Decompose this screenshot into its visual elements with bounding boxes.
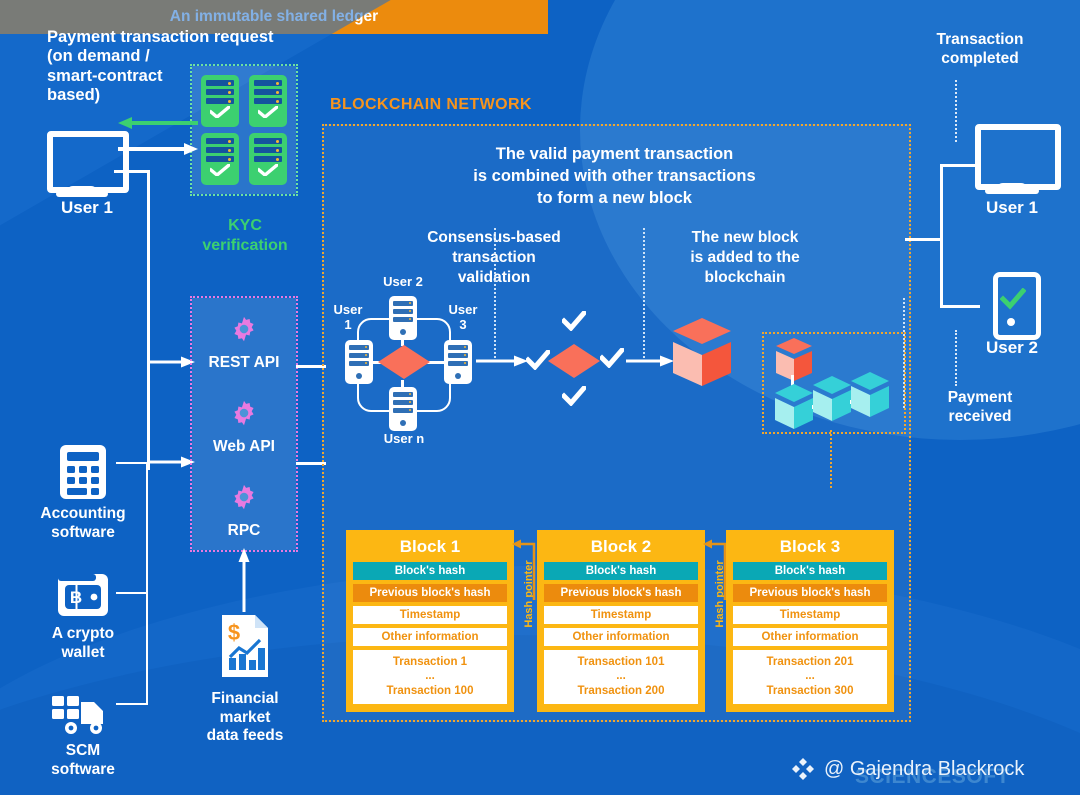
kyc-server-icon (249, 133, 287, 185)
node-user1-line2: 1 (328, 318, 368, 333)
feeds-line1: Financial (175, 690, 315, 709)
network-headline-line1: The valid payment transaction (342, 144, 887, 166)
new-block-arrow (626, 354, 674, 368)
truck-icon (50, 690, 114, 738)
source-wallet-line2: wallet (13, 644, 153, 663)
check-icon (210, 164, 230, 176)
caption-newblock-line3: blockchain (660, 268, 830, 288)
source-label-accounting: Accounting software (13, 505, 153, 542)
block-title: Block 3 (730, 534, 890, 562)
right-user1-monitor-icon (975, 124, 1061, 190)
received-dotted-connector (955, 330, 957, 386)
transactions-row: Transaction 101 ... Transaction 200 (544, 650, 698, 704)
validation-arrow (476, 354, 528, 368)
right-user1-monitor-base (985, 188, 1039, 194)
gear-icon (229, 314, 259, 344)
kyc-server-icon (201, 133, 239, 185)
node-label-usern: User n (374, 432, 434, 447)
other-info-row: Other information (544, 628, 698, 646)
right-bracket-bottom (940, 305, 980, 308)
timestamp-row: Timestamp (544, 606, 698, 624)
kyc-request-arrow (118, 142, 198, 156)
tx-ellipsis: ... (353, 669, 507, 683)
completed-line1: Transaction (900, 30, 1060, 49)
completed-dotted-connector (955, 80, 957, 142)
right-user1-label: User 1 (962, 198, 1062, 218)
node-label-user3: User 3 (443, 303, 483, 333)
network-headline: The valid payment transaction is combine… (342, 144, 887, 209)
api-label-web: Web API (192, 438, 296, 456)
caption-newblock-line2: is added to the (660, 248, 830, 268)
infographic-root: Payment transaction request (on demand /… (0, 0, 1080, 795)
block-title: Block 1 (350, 534, 510, 562)
source-scm-line1: SCM (13, 742, 153, 761)
node-label-user2: User 2 (373, 275, 433, 290)
right-bracket-vertical (940, 164, 943, 308)
check-icon (258, 106, 278, 118)
svg-text:$: $ (228, 620, 240, 645)
timestamp-row: Timestamp (733, 606, 887, 624)
ledger-block: Block 2 Block's hash Previous block's ha… (537, 530, 705, 712)
node-user3-line2: 3 (443, 318, 483, 333)
check-icon (562, 386, 586, 406)
caption-new-block: The new block is added to the blockchain (660, 228, 830, 287)
kyc-server-icon (249, 75, 287, 127)
connector-feeds-arrow (237, 548, 251, 612)
previous-hash-row: Previous block's hash (733, 584, 887, 602)
connector-scm-line (116, 703, 148, 705)
node-label-user1: User 1 (328, 303, 368, 333)
gear-icon (229, 482, 259, 512)
check-icon (562, 311, 586, 331)
previous-hash-row: Previous block's hash (544, 584, 698, 602)
blockchain-network-title: BLOCKCHAIN NETWORK (330, 96, 532, 115)
network-headline-line2: is combined with other transactions (342, 166, 887, 188)
connector-api-arrow-web (147, 455, 195, 469)
connector-sources-vertical (146, 462, 148, 705)
user1-monitor-base (56, 191, 108, 197)
check-icon (210, 106, 230, 118)
right-bracket-feed (905, 238, 943, 241)
block-title: Block 2 (541, 534, 701, 562)
received-line2: received (900, 407, 1060, 426)
right-user2-label: User 2 (962, 338, 1062, 358)
check-icon (600, 348, 624, 368)
payment-request-title: Payment transaction request (47, 28, 337, 47)
tx-last: Transaction 100 (353, 684, 507, 698)
network-headline-line3: to form a new block (342, 188, 887, 210)
api-gateway-box: REST API Web API RPC (192, 298, 296, 550)
source-accounting-line1: Accounting (13, 505, 153, 524)
connector-accounting-line (116, 462, 148, 464)
node-user2 (389, 296, 417, 340)
feeds-label: Financial market data feeds (175, 690, 315, 746)
new-block-cube-icon (669, 318, 735, 390)
timestamp-row: Timestamp (353, 606, 507, 624)
tx-first: Transaction 1 (353, 655, 507, 669)
source-label-wallet: A crypto wallet (13, 625, 153, 662)
api-label-rest: REST API (192, 354, 296, 372)
kyc-verification-box (192, 66, 296, 194)
other-info-row: Other information (353, 628, 507, 646)
financial-document-icon: $ (216, 612, 274, 680)
check-icon (1000, 288, 1026, 310)
connector-wallet-line (116, 592, 148, 594)
node-user3-line1: User (443, 303, 483, 318)
feeds-line3: data feeds (175, 727, 315, 746)
completed-line2: completed (900, 49, 1060, 68)
tx-ellipsis: ... (733, 669, 887, 683)
calculator-icon (58, 443, 108, 501)
ledger-block: Block 3 Block's hash Previous block's ha… (726, 530, 894, 712)
kyc-response-arrow (118, 116, 198, 130)
watermark: @ Gajendra Blackrock (790, 752, 1070, 786)
transaction-completed-label: Transaction completed (900, 30, 1060, 69)
caption-newblock-line1: The new block (660, 228, 830, 248)
chain-to-ledger-connector (830, 430, 832, 488)
payment-received-label: Payment received (900, 388, 1060, 427)
previous-hash-row: Previous block's hash (353, 584, 507, 602)
block-hash-row: Block's hash (544, 562, 698, 580)
source-scm-line2: software (13, 761, 153, 780)
user1-monitor-icon (47, 131, 129, 193)
gear-icon (229, 398, 259, 428)
source-accounting-line2: software (13, 524, 153, 543)
source-wallet-line1: A crypto (13, 625, 153, 644)
check-icon (526, 350, 550, 370)
kyc-label-line1: KYC (186, 216, 304, 236)
tx-last: Transaction 300 (733, 684, 887, 698)
kyc-label-line2: verification (186, 236, 304, 256)
connector-api-arrow-rest (147, 355, 195, 369)
panel-divider-2 (643, 228, 645, 358)
node-usern (389, 387, 417, 431)
connector-api-bus-vertical (147, 170, 150, 470)
source-label-scm: SCM software (13, 742, 153, 779)
kyc-server-icon (201, 75, 239, 127)
transactions-row: Transaction 201 ... Transaction 300 (733, 650, 887, 704)
other-info-row: Other information (733, 628, 887, 646)
connector-user1-to-api (114, 170, 150, 173)
tx-ellipsis: ... (544, 669, 698, 683)
node-user3 (444, 340, 472, 384)
payment-request-sub-1: (on demand / (47, 47, 337, 66)
phone-home-button (1007, 318, 1015, 326)
chain-block-cube-icon (848, 372, 892, 420)
node-user1 (345, 340, 373, 384)
ledger-block: Block 1 Block's hash Previous block's ha… (346, 530, 514, 712)
block-hash-row: Block's hash (353, 562, 507, 580)
received-line1: Payment (900, 388, 1060, 407)
tx-first: Transaction 201 (733, 655, 887, 669)
feeds-line2: market (175, 709, 315, 728)
transactions-row: Transaction 1 ... Transaction 100 (353, 650, 507, 704)
binance-diamond-icon (790, 756, 816, 782)
joining-block-cube-icon (774, 338, 814, 384)
api-label-rpc: RPC (192, 522, 296, 540)
node-user1-line1: User (328, 303, 368, 318)
user1-label: User 1 (47, 198, 127, 218)
block-hash-row: Block's hash (733, 562, 887, 580)
watermark-text: @ Gajendra Blackrock (824, 758, 1024, 781)
crypto-wallet-icon: B (55, 570, 111, 620)
check-icon (258, 164, 278, 176)
tx-first: Transaction 101 (544, 655, 698, 669)
tx-last: Transaction 200 (544, 684, 698, 698)
panel-divider-1 (494, 228, 496, 358)
kyc-verification-label: KYC verification (186, 216, 304, 256)
right-bracket-top (940, 164, 980, 167)
